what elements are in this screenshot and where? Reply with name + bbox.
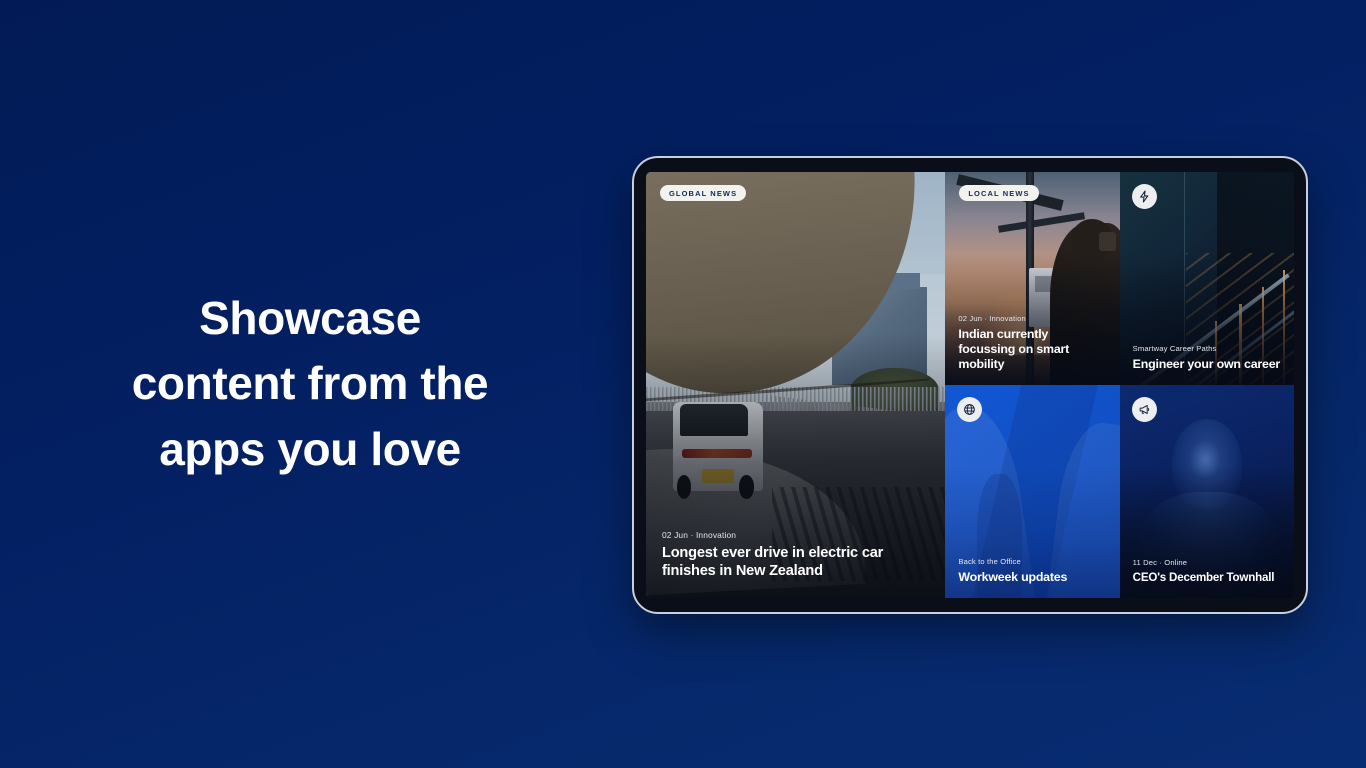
cards-row-top: LOCAL NEWS 02 Jun · Innovation Indian cu… (945, 172, 1294, 385)
cards-row-bottom: Back to the Office Workweek updates (945, 385, 1294, 598)
lightning-bolt-icon[interactable] (1132, 184, 1157, 209)
headline-line-3: apps you love (0, 417, 620, 482)
card-career-text: Smartway Career Paths Engineer your own … (1120, 344, 1294, 385)
card-workweek-title: Workweek updates (958, 570, 1106, 585)
card-local-news-meta: 02 Jun · Innovation (958, 314, 1106, 323)
headline-line-2: content from the (0, 351, 620, 416)
card-local-news-text: 02 Jun · Innovation Indian currently foc… (945, 314, 1119, 385)
card-townhall[interactable]: 11 Dec · Online CEO's December Townhall (1120, 385, 1294, 598)
card-workweek-text: Back to the Office Workweek updates (945, 557, 1119, 598)
card-workweek[interactable]: Back to the Office Workweek updates (945, 385, 1119, 598)
page-headline: Showcase content from the apps you love (0, 286, 620, 482)
tablet-screen: GLOBAL NEWS 02 Jun · Innovation Longest … (646, 172, 1294, 598)
card-local-news[interactable]: LOCAL NEWS 02 Jun · Innovation Indian cu… (945, 172, 1119, 385)
card-global-news-meta: 02 Jun · Innovation (662, 530, 929, 540)
card-global-news[interactable]: GLOBAL NEWS 02 Jun · Innovation Longest … (646, 172, 945, 598)
card-workweek-meta: Back to the Office (958, 557, 1106, 566)
megaphone-icon[interactable] (1132, 397, 1157, 422)
card-career-title: Engineer your own career (1133, 357, 1281, 372)
card-local-news-title: Indian currently focussing on smart mobi… (958, 327, 1106, 372)
card-career[interactable]: Smartway Career Paths Engineer your own … (1120, 172, 1294, 385)
card-townhall-title: CEO's December Townhall (1133, 571, 1281, 585)
card-career-meta: Smartway Career Paths (1133, 344, 1281, 353)
card-global-news-title: Longest ever drive in electric car finis… (662, 545, 929, 581)
main-feature-column: GLOBAL NEWS 02 Jun · Innovation Longest … (646, 172, 945, 598)
card-global-news-text: 02 Jun · Innovation Longest ever drive i… (646, 530, 945, 598)
card-townhall-text: 11 Dec · Online CEO's December Townhall (1120, 558, 1294, 598)
card-townhall-meta: 11 Dec · Online (1133, 558, 1281, 567)
headline-line-1: Showcase (0, 286, 620, 351)
badge-global-news: GLOBAL NEWS (660, 185, 746, 201)
tablet-device-frame: GLOBAL NEWS 02 Jun · Innovation Longest … (632, 156, 1308, 614)
badge-local-news: LOCAL NEWS (959, 185, 1038, 201)
secondary-cards-grid: LOCAL NEWS 02 Jun · Innovation Indian cu… (945, 172, 1294, 598)
